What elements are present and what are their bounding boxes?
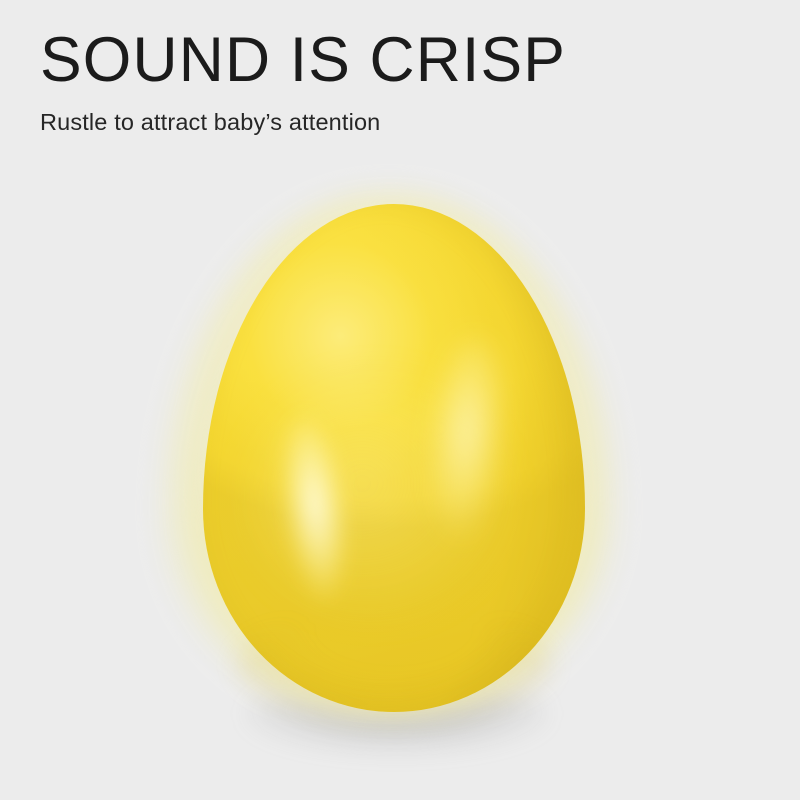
subheadline: Rustle to attract baby’s attention	[40, 92, 740, 136]
product-feature-slide: SOUND IS CRISP Rustle to attract baby’s …	[0, 0, 800, 800]
headline: SOUND IS CRISP	[40, 28, 733, 92]
egg-bottom-shading	[238, 612, 550, 716]
copy-block: SOUND IS CRISP Rustle to attract baby’s …	[40, 28, 740, 136]
